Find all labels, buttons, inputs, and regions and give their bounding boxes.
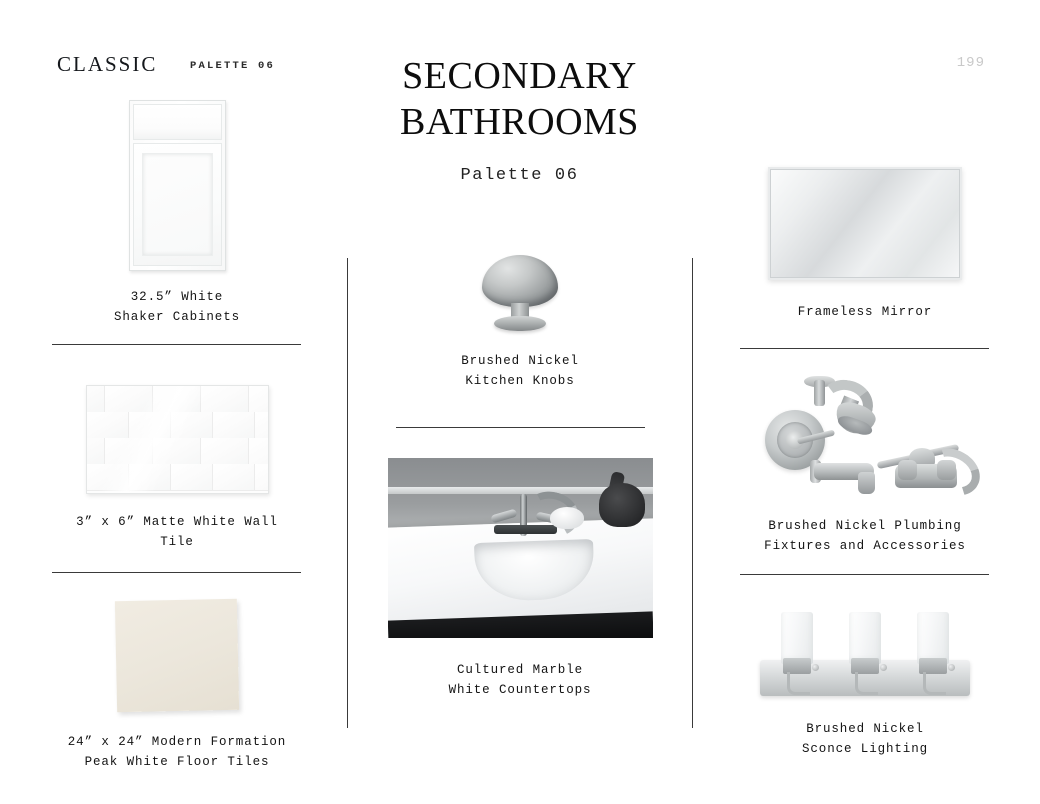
- right-divider-2: [740, 574, 989, 575]
- subway-brick: [255, 464, 268, 490]
- sconce-arm: [855, 672, 878, 695]
- subway-brick: [213, 412, 255, 438]
- sconce-screw: [812, 664, 819, 671]
- subway-brick: [105, 386, 153, 412]
- subway-brick: [87, 412, 129, 438]
- item-frameless-mirror: Frameless Mirror: [730, 167, 1000, 322]
- frameless-mirror-icon: [768, 167, 962, 280]
- subway-brick: [249, 386, 268, 412]
- item-caption: 3” x 6” Matte White Wall Tile: [42, 512, 312, 553]
- lav-faucet-hub-left: [898, 460, 917, 480]
- subway-row: [86, 386, 269, 413]
- sconce-glass-shade: [917, 612, 949, 664]
- knob-base: [494, 316, 546, 331]
- palette-tag: PALETTE 06: [190, 60, 275, 72]
- item-sconce-lighting: Brushed Nickel Sconce Lighting: [730, 608, 1000, 760]
- cabinet-door-panel: [133, 143, 222, 266]
- tub-spout-outlet: [858, 472, 875, 494]
- photo-dark-object-front: [599, 483, 645, 527]
- subway-brick: [201, 386, 249, 412]
- item-shaker-cabinets: 32.5” White Shaker Cabinets: [42, 100, 312, 328]
- item-floor-tiles: 24” x 24” Modern Formation Peak White Fl…: [42, 600, 312, 773]
- subway-brick: [255, 412, 268, 438]
- white-subway-tile-icon: [86, 385, 269, 494]
- item-caption: Cultured Marble White Countertops: [385, 660, 655, 701]
- subway-tile-rows: [87, 386, 268, 493]
- right-divider-1: [740, 348, 989, 349]
- center-divider-1: [396, 427, 645, 428]
- brushed-nickel-plumbing-fixtures-icon: [757, 364, 973, 504]
- photo-faucet-base: [494, 525, 558, 534]
- column-divider-left: [347, 258, 348, 728]
- column-divider-right: [692, 258, 693, 728]
- sconce-glass-shade: [781, 612, 813, 664]
- subway-brick: [86, 438, 105, 464]
- subway-row: [86, 412, 269, 439]
- subway-brick: [171, 412, 213, 438]
- subway-brick: [87, 464, 129, 490]
- item-caption: Brushed Nickel Sconce Lighting: [730, 719, 1000, 760]
- lav-faucet-hub-right: [937, 460, 956, 480]
- item-caption: Brushed Nickel Plumbing Fixtures and Acc…: [730, 516, 1000, 557]
- item-wall-tile: 3” x 6” Matte White Wall Tile: [42, 385, 312, 553]
- item-caption: 32.5” White Shaker Cabinets: [42, 287, 312, 328]
- sconce-lamp: [842, 608, 888, 696]
- cabinet-drawer-panel: [133, 104, 222, 140]
- subway-brick: [105, 438, 153, 464]
- brushed-nickel-sconce-icon: [756, 608, 974, 705]
- page-subtitle: Palette 06: [347, 166, 692, 185]
- sconce-glass-shade: [849, 612, 881, 664]
- left-divider-1: [52, 344, 301, 345]
- page-number: 199: [957, 55, 985, 71]
- cream-floor-tile-icon: [115, 599, 239, 713]
- sconce-arm: [923, 672, 946, 695]
- photo-soap-dish: [550, 507, 584, 529]
- white-shaker-cabinet-icon: [129, 100, 226, 271]
- sconce-screw: [948, 664, 955, 671]
- item-kitchen-knobs: Brushed Nickel Kitchen Knobs: [385, 255, 655, 392]
- page-title: SECONDARY BATHROOMS: [347, 53, 692, 146]
- subway-row: [86, 464, 269, 491]
- item-countertops: Cultured Marble White Countertops: [385, 458, 655, 701]
- subway-brick: [153, 438, 201, 464]
- subway-brick: [129, 412, 171, 438]
- left-divider-2: [52, 572, 301, 573]
- subway-brick: [86, 386, 105, 412]
- subway-brick: [213, 464, 255, 490]
- sconce-lamp: [910, 608, 956, 696]
- title-block: SECONDARY BATHROOMS Palette 06: [347, 53, 692, 185]
- subway-brick: [201, 438, 249, 464]
- subway-brick: [129, 464, 171, 490]
- knob-cap: [482, 255, 558, 307]
- sconce-arm: [787, 672, 810, 695]
- sconce-screw: [880, 664, 887, 671]
- subway-brick: [153, 386, 201, 412]
- item-caption: Frameless Mirror: [730, 302, 1000, 322]
- item-caption: 24” x 24” Modern Formation Peak White Fl…: [42, 732, 312, 773]
- subway-brick: [171, 464, 213, 490]
- subway-row: [86, 438, 269, 465]
- subway-brick: [249, 438, 268, 464]
- sconce-lamp: [774, 608, 820, 696]
- brand-label: CLASSIC: [57, 52, 157, 77]
- item-plumbing-fixtures: Brushed Nickel Plumbing Fixtures and Acc…: [730, 364, 1000, 557]
- brushed-nickel-knob-icon: [476, 255, 564, 337]
- cabinet-recessed-panel: [142, 153, 213, 256]
- item-caption: Brushed Nickel Kitchen Knobs: [385, 351, 655, 392]
- cultured-marble-vanity-photo: [388, 458, 653, 638]
